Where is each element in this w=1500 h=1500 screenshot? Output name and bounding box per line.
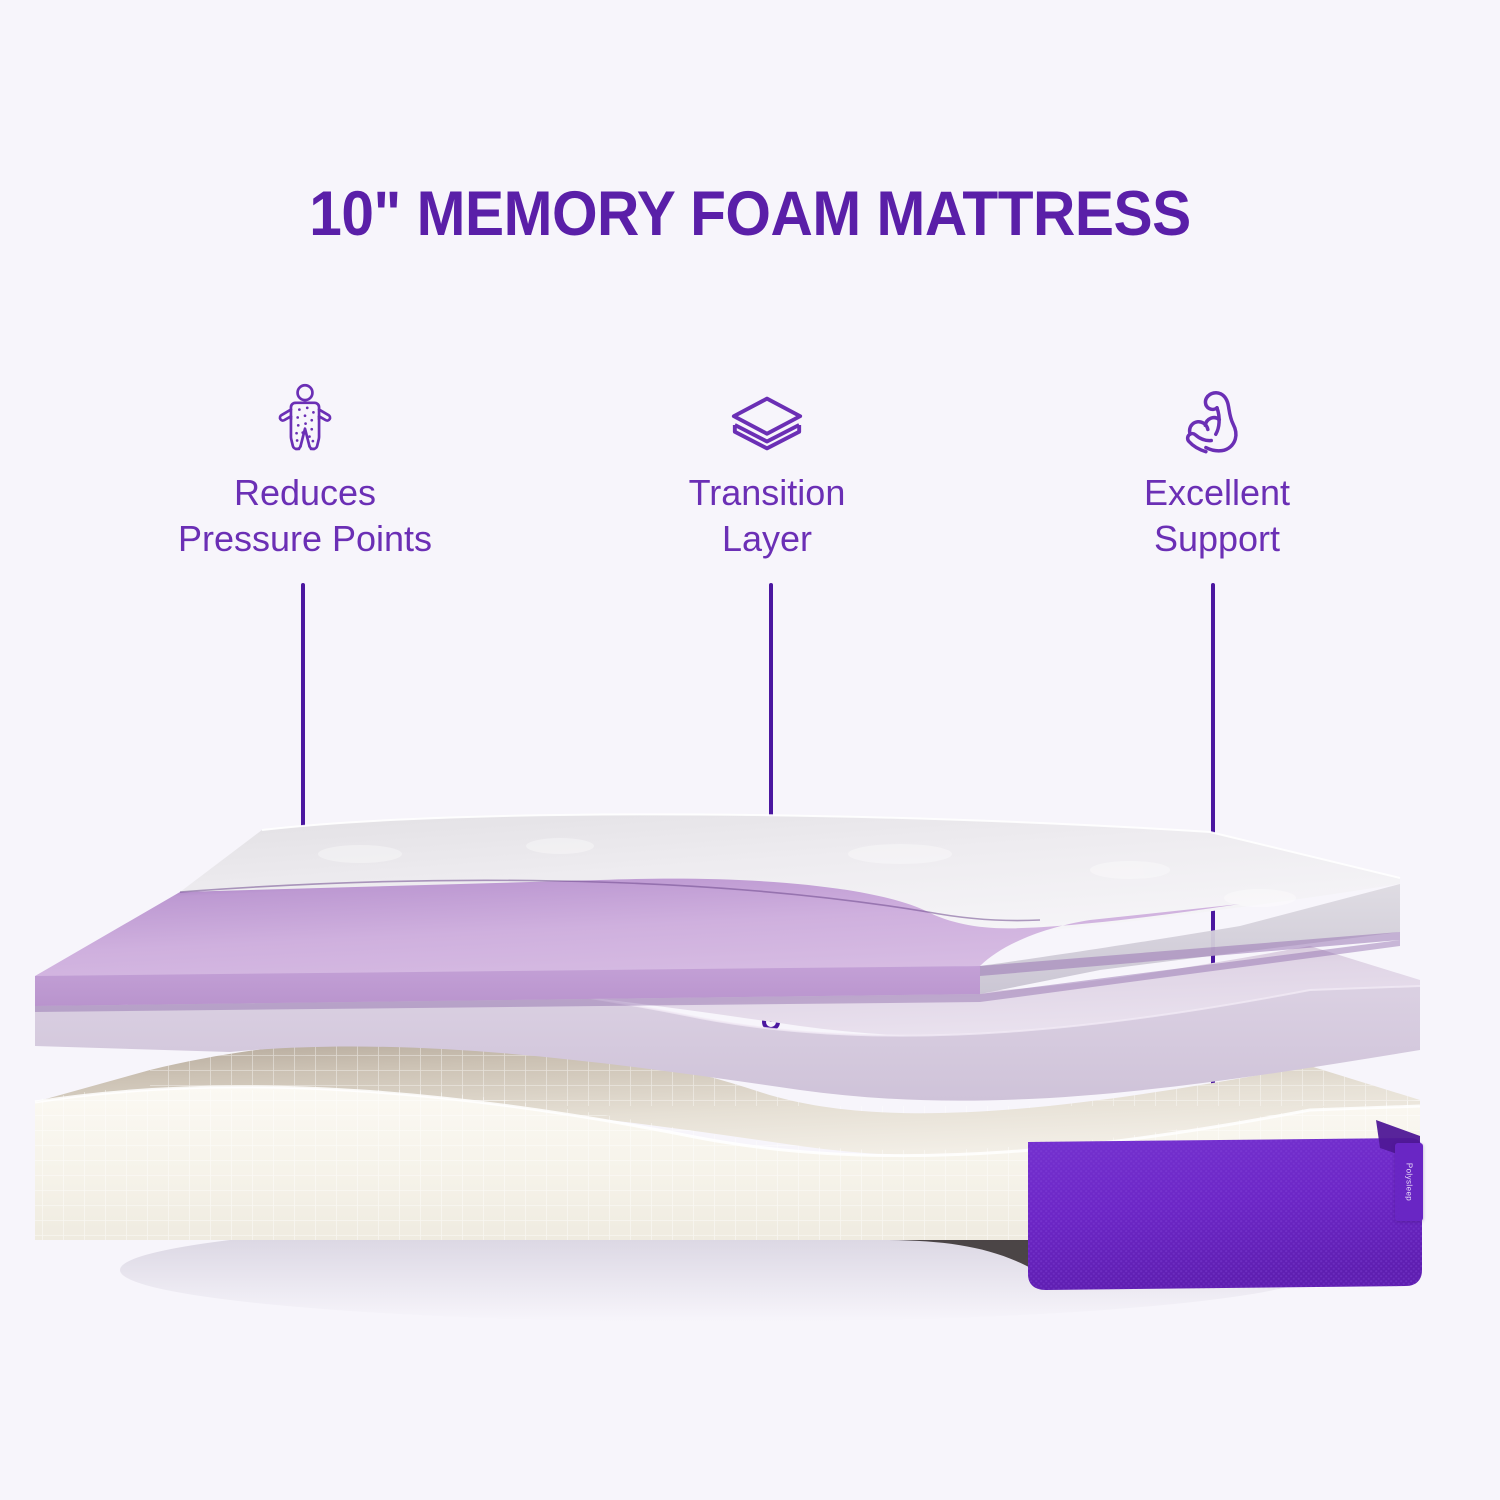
feature-label-line1: Excellent [1144,472,1290,513]
feature-callout-excellent-support: Excellent Support [1052,382,1382,562]
brand-tag-text: Polysleep [1405,1163,1414,1201]
mattress-stack-illustration [0,770,1500,1390]
base-fabric-panel [1028,1120,1422,1290]
feature-callout-reduces-pressure-points: Reduces Pressure Points [140,382,470,562]
stacked-layers-icon [602,382,932,454]
feature-callout-transition-layer: Transition Layer [602,382,932,562]
feature-label-line1: Reduces [234,472,376,513]
page-title: 10" MEMORY FOAM MATTRESS [53,178,1448,250]
body-pressure-points-icon [140,382,470,454]
flexed-bicep-icon [1052,382,1382,454]
feature-label: Reduces Pressure Points [140,470,470,562]
feature-label-line2: Pressure Points [178,518,432,559]
feature-label-line1: Transition [689,472,846,513]
feature-label: Excellent Support [1052,470,1382,562]
feature-label-line2: Layer [722,518,812,559]
feature-label: Transition Layer [602,470,932,562]
feature-label-line2: Support [1154,518,1280,559]
brand-tag: Polysleep [1395,1143,1423,1221]
